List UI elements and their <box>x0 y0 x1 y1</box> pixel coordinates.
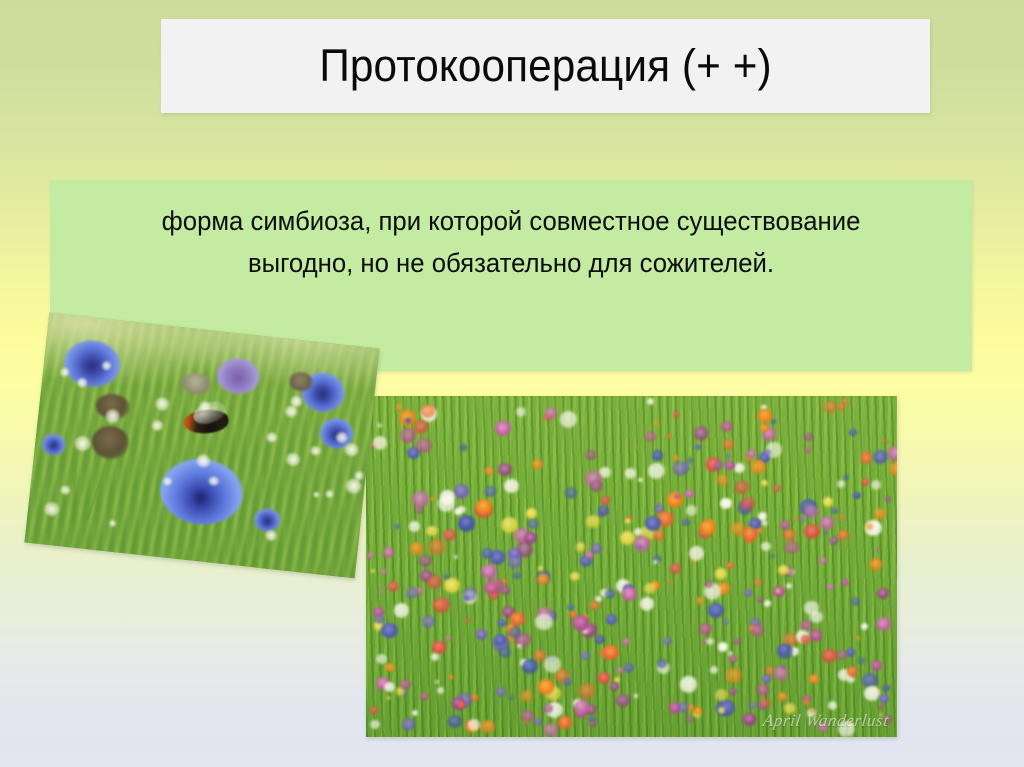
wildflower-bloom <box>421 404 435 418</box>
wildflower-bloom <box>449 675 453 679</box>
wildflower-bloom <box>565 487 577 499</box>
photo-watermark: April Wanderlust <box>762 711 890 731</box>
wildflower-bloom <box>726 454 731 458</box>
wildflower-bloom <box>498 619 506 627</box>
wildflower-bloom <box>443 529 456 541</box>
wildflower-bloom <box>400 679 411 689</box>
wildflower-bloom <box>620 531 635 545</box>
wildflower-bloom <box>435 680 439 684</box>
wildflower-bloom <box>495 421 511 436</box>
wildflower-bloom <box>759 698 771 709</box>
wildflower-bloom <box>871 660 881 670</box>
wildflower-bloom <box>888 446 897 461</box>
presentation-slide: Протокооперация (+ +) форма симбиоза, пр… <box>0 0 1024 767</box>
wildflower-bloom <box>485 486 496 497</box>
wildflower-bloom <box>496 687 506 696</box>
wildflower-bloom <box>838 404 845 411</box>
white-bud <box>76 377 87 388</box>
wildflower-bloom <box>494 634 506 646</box>
wildflower-bloom <box>856 636 861 641</box>
wildflower-bloom <box>535 614 552 631</box>
wildflower-bloom <box>598 672 610 684</box>
wildflower-bloom <box>837 480 845 488</box>
wildflower-bloom <box>877 588 889 599</box>
wildflower-bloom <box>652 450 664 461</box>
wildflower-bloom <box>778 692 787 701</box>
wildflower-bloom <box>454 508 462 516</box>
wildflower-bloom <box>715 568 727 580</box>
wildflower-bloom <box>415 507 423 514</box>
wildflower-bloom <box>717 474 729 486</box>
wildflower-bloom <box>751 460 766 474</box>
wildflower-bloom <box>419 555 432 567</box>
slide-title-plate: Протокооперация (+ +) <box>161 19 930 113</box>
wildflower-bloom <box>726 562 734 570</box>
wildflower-bloom <box>760 424 769 432</box>
wildflower-bloom <box>471 694 479 702</box>
wildflower-bloom <box>468 719 480 730</box>
wildflower-bloom <box>685 490 693 498</box>
wildflower-bloom <box>426 526 437 537</box>
wildflower-bloom <box>427 575 442 589</box>
wildflower-bloom <box>678 702 689 713</box>
wildflower-bloom <box>509 626 522 638</box>
wildflower-bloom <box>710 666 718 674</box>
wildflower-meadow-photo: April Wanderlust <box>366 396 897 737</box>
wildflower-bloom <box>387 696 391 700</box>
wildflower-bloom <box>380 568 387 575</box>
wildflower-bloom <box>394 603 409 617</box>
wildflower-bloom <box>879 704 884 709</box>
wildflower-bloom <box>706 638 713 645</box>
wildflower-bloom <box>624 663 634 673</box>
wildflower-bloom <box>862 478 870 485</box>
wildflower-bloom <box>849 429 857 436</box>
wildflower-bloom <box>847 666 858 677</box>
wildflower-bloom <box>544 723 558 737</box>
wildflower-bloom <box>723 439 734 449</box>
wildflower-bloom <box>670 563 681 574</box>
wildflower-bloom <box>617 667 624 674</box>
bumblebee <box>177 405 235 441</box>
wildflower-bloom <box>517 644 522 648</box>
wildflower-bloom <box>778 565 788 575</box>
wildflower-bloom <box>654 421 659 426</box>
wildflower-bloom <box>498 463 512 477</box>
wildflower-bloom <box>645 516 660 531</box>
wildflower-bloom <box>729 688 737 696</box>
wildflower-bloom <box>558 716 571 729</box>
wildflower-bloom <box>879 694 888 703</box>
wildflower-bloom <box>714 461 723 470</box>
wildflower-bloom <box>883 685 889 691</box>
wildflower-bloom <box>718 707 726 714</box>
wildflower-bloom <box>488 469 493 474</box>
wildflower-bloom <box>771 554 775 558</box>
wildflower-bloom <box>853 492 861 500</box>
wildflower-bloom <box>725 461 734 470</box>
wildflower-bloom <box>402 718 415 731</box>
wildflower-bloom <box>516 407 526 417</box>
wildflower-bloom <box>734 463 745 473</box>
wildflower-bloom <box>686 505 697 515</box>
wildflower-bloom <box>680 676 697 692</box>
wildflower-bloom <box>586 450 596 460</box>
wildflower-bloom <box>601 496 610 504</box>
wildflower-bloom <box>837 650 847 660</box>
wildflower-bloom <box>809 674 819 684</box>
wildflower-bloom <box>673 411 680 417</box>
wildflower-bloom <box>721 421 733 432</box>
wildflower-bloom <box>544 656 561 672</box>
wildflower-bloom <box>606 614 617 624</box>
wildflower-bloom <box>839 514 846 520</box>
wildflower-bloom <box>828 701 837 710</box>
wildflower-bloom <box>885 496 891 502</box>
wildflower-bloom <box>394 524 399 529</box>
wildflower-bloom <box>421 693 428 700</box>
wildflower-bloom <box>388 581 399 592</box>
wildflower-bloom <box>824 401 836 413</box>
wildflower-bloom <box>572 615 589 631</box>
wildflower-bloom <box>589 716 595 722</box>
wildflower-bloom <box>499 647 510 658</box>
wildflower-bloom <box>589 721 596 727</box>
wildflower-bloom <box>847 676 855 683</box>
wildflower-bloom <box>412 491 429 507</box>
wildflower-bloom <box>876 617 891 631</box>
wildflower-bloom <box>842 579 849 586</box>
wildflower-bloom <box>444 574 449 578</box>
wildflower-bloom <box>682 519 689 526</box>
wildflower-bloom <box>699 623 712 635</box>
wildflower-bloom <box>482 548 493 558</box>
wildflower-bloom <box>616 694 630 707</box>
wildflower-bloom <box>383 547 394 558</box>
wildflower-bloom <box>762 675 771 684</box>
wildflower-bloom <box>538 566 543 571</box>
wildflower-bloom <box>414 420 428 433</box>
wildflower-bloom <box>574 700 590 715</box>
wildflower-bloom <box>708 519 713 524</box>
wildflower-bloom <box>400 428 415 443</box>
wildflower-bloom <box>794 516 799 521</box>
wildflower-bloom <box>783 529 796 541</box>
definition-text: форма симбиоза, при которой совместное с… <box>120 201 902 285</box>
wildflower-bloom <box>524 532 537 544</box>
wildflower-bloom <box>481 564 497 579</box>
wildflower-bloom <box>622 587 637 601</box>
wildflower-bloom <box>827 584 834 590</box>
wildflower-bloom <box>663 637 672 645</box>
wildflower-bloom <box>484 581 499 595</box>
wildflower-bloom <box>866 523 873 530</box>
wildflower-bloom <box>508 555 522 569</box>
wildflower-bloom <box>501 586 510 595</box>
wildflower-bloom <box>743 713 756 726</box>
wildflower-bloom <box>708 603 723 618</box>
bumblebee-on-cornflowers-photo <box>24 313 379 579</box>
wildflower-bloom <box>801 635 810 643</box>
wildflower-bloom <box>431 653 439 661</box>
wildflower-bloom <box>723 619 729 625</box>
wildflower-bloom <box>751 624 764 637</box>
wildflower-bloom <box>590 601 599 610</box>
wildflower-bloom <box>481 720 495 734</box>
wildflower-bloom <box>454 484 470 499</box>
wildflower-bloom <box>686 716 693 723</box>
wildflower-bloom <box>728 651 733 656</box>
wildflower-bloom <box>780 520 790 530</box>
wildflower-bloom <box>412 710 418 716</box>
wildflower-bloom <box>858 657 865 664</box>
wildflower-bloom <box>805 447 811 453</box>
wildflower-bloom <box>576 542 586 551</box>
wildflower-bloom <box>823 497 834 507</box>
wildflower-bloom <box>595 635 605 644</box>
wildflower-bloom <box>625 518 631 524</box>
wildflower-bloom <box>861 453 872 464</box>
wildflower-bloom <box>430 497 435 501</box>
wildflower-bloom <box>742 527 758 542</box>
wildflower-bloom <box>526 508 537 518</box>
wildflower-bloom <box>440 490 455 505</box>
wildflower-bloom <box>579 683 595 699</box>
wildflower-bloom <box>694 426 709 440</box>
wildflower-bloom <box>761 480 768 487</box>
wildflower-bloom <box>521 690 533 701</box>
wildflower-bloom <box>410 542 423 555</box>
wildflower-bloom <box>513 572 521 580</box>
wildflower-bloom <box>458 515 475 532</box>
wildflower-bloom <box>437 687 443 693</box>
wildflower-bloom <box>871 480 881 490</box>
wildflower-bloom <box>774 666 789 680</box>
wildflower-bloom <box>829 536 838 545</box>
wildflower-bloom <box>715 689 728 701</box>
meadow-grass-background <box>366 396 897 737</box>
wildflower-bloom <box>634 536 650 552</box>
wildflower-bloom <box>870 558 883 570</box>
slide-title: Протокооперация (+ +) <box>319 42 771 89</box>
wildflower-bloom <box>761 542 770 551</box>
white-bud <box>108 519 116 527</box>
wildflower-bloom <box>432 641 445 654</box>
wildflower-bloom <box>370 720 380 729</box>
wildflower-bloom <box>501 517 518 533</box>
wildflower-bloom <box>560 411 577 428</box>
wildflower-bloom <box>444 578 460 593</box>
wildflower-bloom <box>824 531 828 535</box>
wildflower-bloom <box>689 546 704 561</box>
wildflower-bloom <box>648 463 664 479</box>
wildflower-bloom <box>749 702 756 708</box>
wildflower-bloom <box>373 436 388 450</box>
wildflower-bloom <box>564 678 571 685</box>
wildflower-bloom <box>476 499 492 515</box>
wildflower-bloom <box>545 407 557 419</box>
wildflower-bloom <box>810 629 823 641</box>
wildflower-bloom <box>567 604 573 610</box>
wildflower-bloom <box>666 434 671 439</box>
wildflower-bloom <box>822 649 836 663</box>
wildflower-bloom <box>381 623 398 639</box>
wildflower-bloom <box>504 479 518 493</box>
wildflower-bloom <box>785 541 799 555</box>
wildflower-bloom <box>640 597 655 611</box>
wildflower-bloom <box>889 462 897 476</box>
wildflower-bloom <box>820 516 834 530</box>
wildflower-bloom <box>435 601 442 608</box>
wildflower-bloom <box>406 587 418 599</box>
wildflower-bloom <box>735 481 748 494</box>
